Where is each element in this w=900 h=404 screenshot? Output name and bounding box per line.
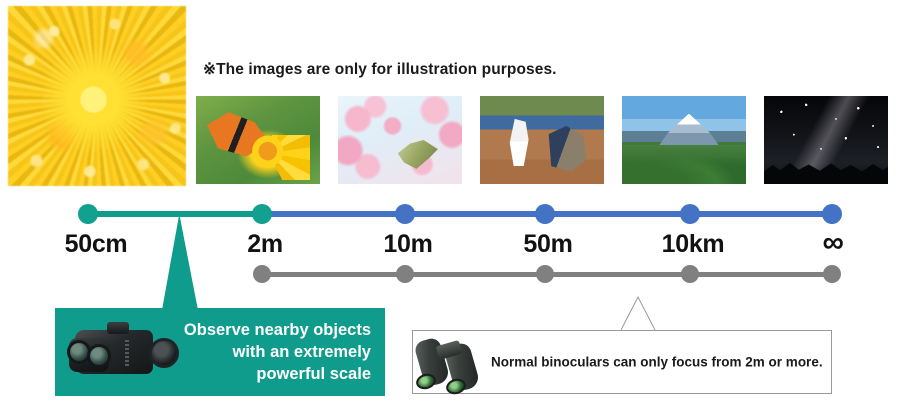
normal-callout-text: Normal binoculars can only focus from 2m… — [491, 355, 823, 370]
scale-dot-2m — [252, 204, 272, 224]
scale-dot-10km — [680, 204, 700, 224]
thumbnail-starry-night-sky — [764, 96, 888, 184]
highlight-line-3: powerful scale — [184, 363, 371, 385]
normal-scale-dot-10m — [396, 265, 414, 283]
teal-callout-pointer — [162, 214, 198, 310]
standard-binoculars-icon — [415, 333, 487, 393]
scale-dot-50m — [535, 204, 555, 224]
highlight-callout-text: Observe nearby objects with an extremely… — [184, 319, 371, 385]
normal-scale-dot-50m — [536, 265, 554, 283]
normal-scale-dot-10km — [681, 265, 699, 283]
hero-flower-image — [8, 6, 186, 186]
thumbnail-strip — [196, 96, 888, 184]
scale-label-50m: 50m — [523, 230, 572, 259]
thumbnail-bird-in-cherry-blossoms — [338, 96, 462, 184]
scale-segment-teal — [88, 211, 262, 217]
normal-scale-dot-2m — [253, 265, 271, 283]
scale-label-2m: 2m — [247, 230, 283, 259]
scale-label-10km: 10km — [662, 230, 725, 259]
thumbnail-butterfly-on-yellow-flower — [196, 96, 320, 184]
compact-binoculars-icon — [67, 320, 199, 386]
scale-dot-10m — [395, 204, 415, 224]
highlight-line-1: Observe nearby objects — [184, 319, 371, 341]
highlight-callout-box: Observe nearby objects with an extremely… — [55, 308, 385, 396]
thumbnail-baseball-batter-and-catcher — [480, 96, 604, 184]
scale-label-10m: 10m — [383, 230, 432, 259]
scale-dot-50cm — [78, 204, 98, 224]
highlight-line-2: with an extremely — [184, 341, 371, 363]
illustration-caption: ※The images are only for illustration pu… — [203, 60, 557, 79]
scale-dot-infinity — [822, 204, 842, 224]
normal-callout-box: Normal binoculars can only focus from 2m… — [412, 330, 832, 394]
thumbnail-mount-fuji-landscape — [622, 96, 746, 184]
normal-callout-pointer — [620, 296, 656, 331]
scale-label-infinity: ∞ — [822, 226, 843, 260]
scale-label-50cm: 50cm — [65, 230, 128, 259]
normal-scale-dot-infinity — [823, 265, 841, 283]
